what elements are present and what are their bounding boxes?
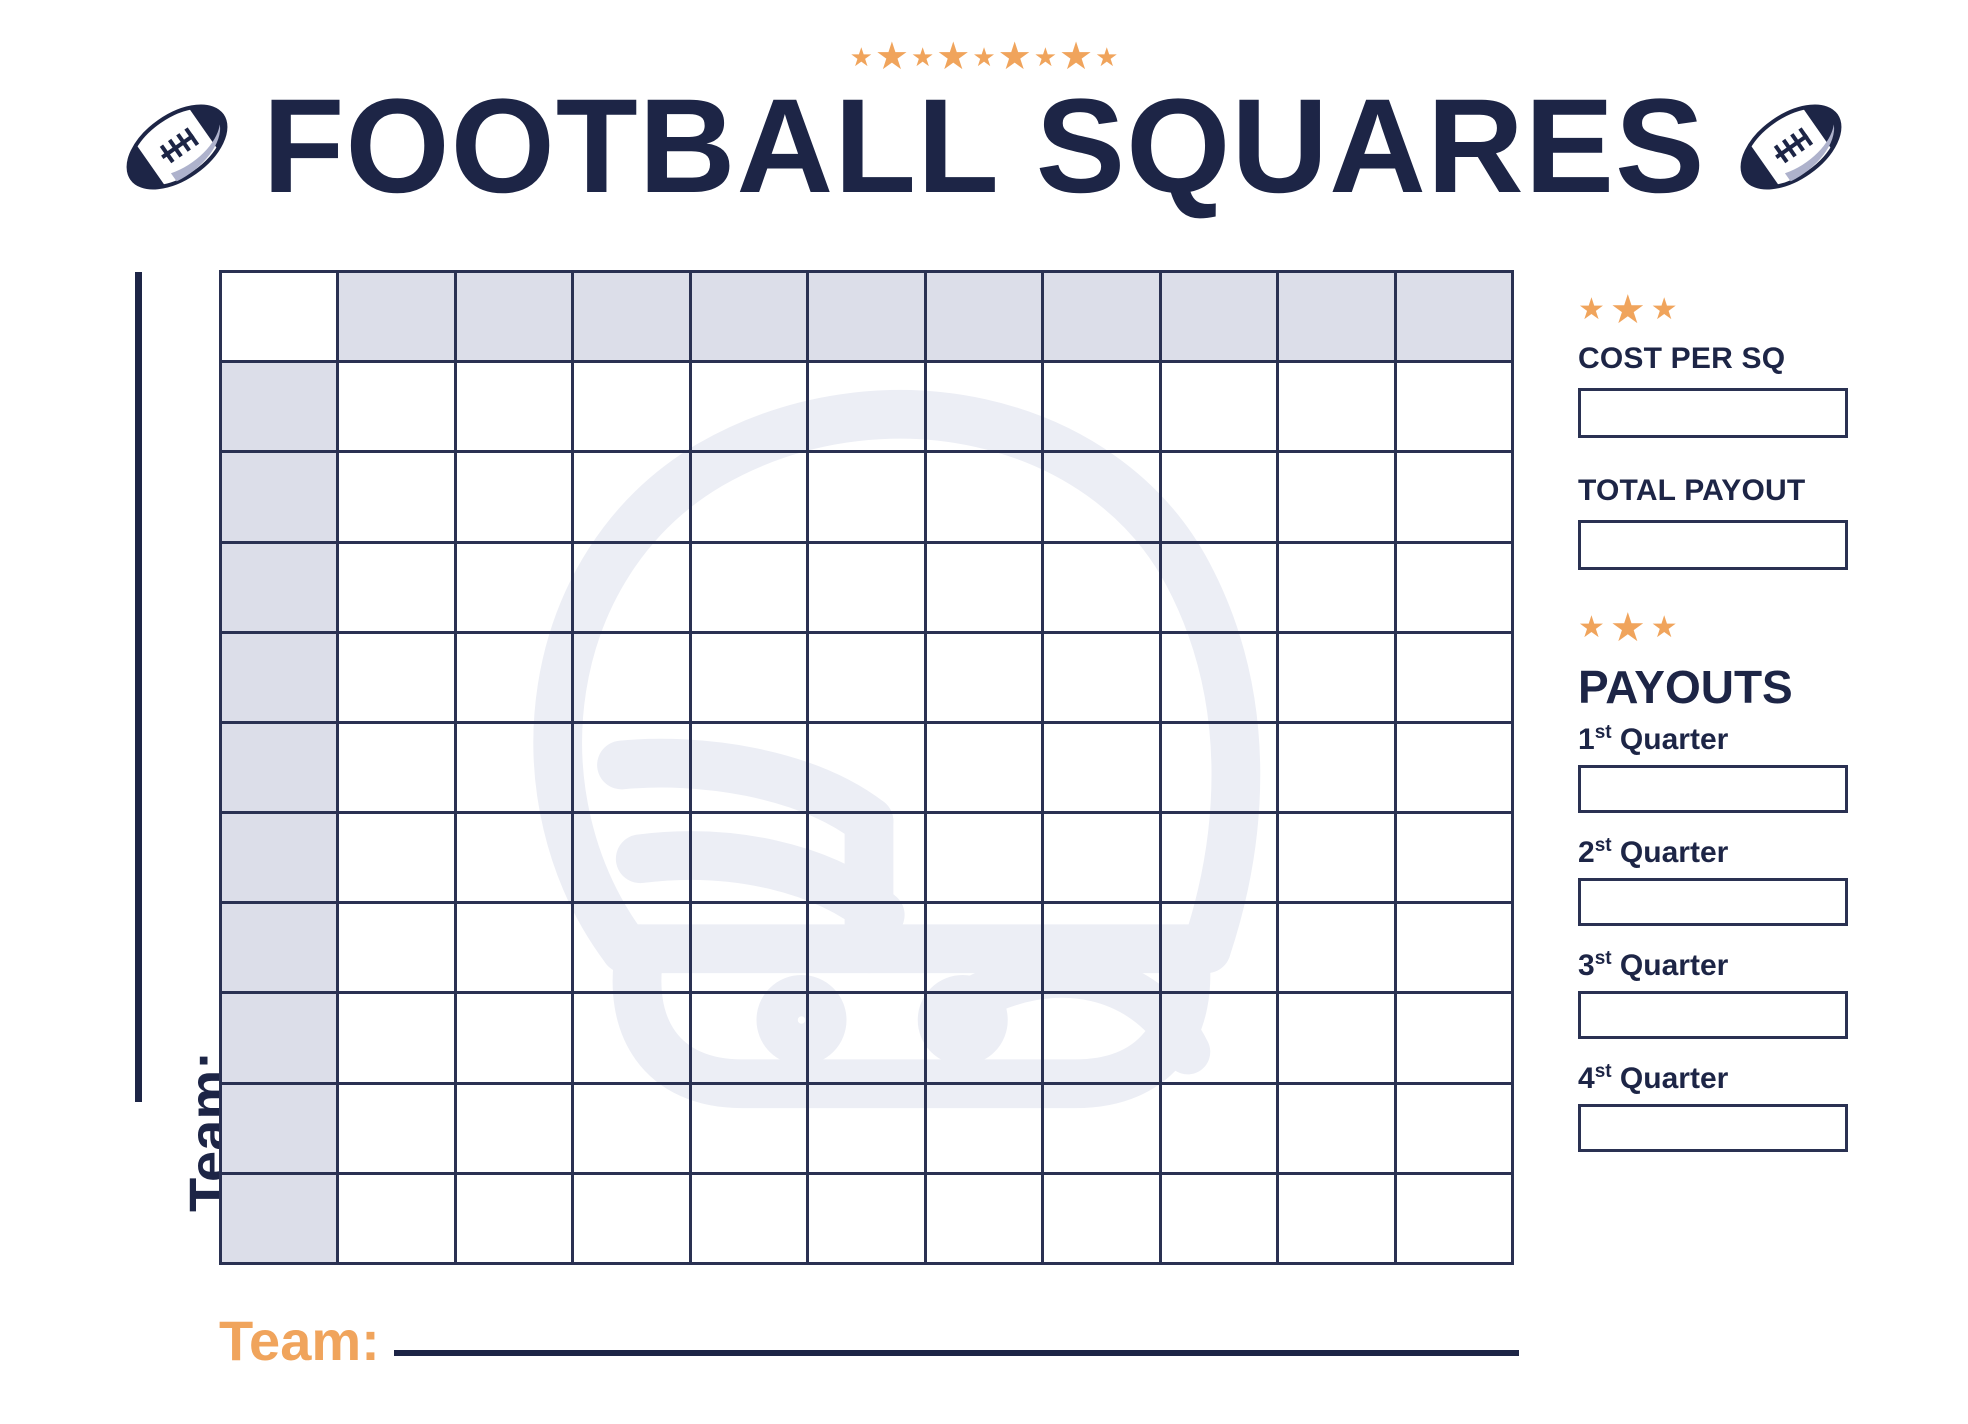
grid-square[interactable] [925,903,1042,993]
grid-square[interactable] [573,903,690,993]
grid-square[interactable] [1160,813,1277,903]
grid-square[interactable] [573,632,690,722]
grid-square[interactable] [573,452,690,542]
quarter-3-label: 3st Quarter [1578,948,1868,983]
grid-square[interactable] [1395,722,1512,812]
grid-square[interactable] [455,542,572,632]
grid-square[interactable] [1160,542,1277,632]
grid-square[interactable] [455,1083,572,1173]
grid-square[interactable] [338,1173,455,1263]
total-payout-label: TOTAL PAYOUT [1578,474,1868,508]
grid-square[interactable] [690,1083,807,1173]
grid-square[interactable] [1395,632,1512,722]
grid-row-header-6[interactable] [221,903,338,993]
grid-square[interactable] [690,362,807,452]
cost-star-icon: ★ [1651,295,1678,325]
grid-square[interactable] [1043,813,1160,903]
grid-square[interactable] [338,1083,455,1173]
quarter-3-payout-input[interactable] [1578,991,1848,1039]
quarter-2-label: 2st Quarter [1578,835,1868,870]
quarter-ordinal-suffix: st [1595,722,1612,743]
quarter-number: 2 [1578,836,1595,869]
grid-column-header-1[interactable] [455,272,572,362]
quarter-1-payout-input[interactable] [1578,765,1848,813]
payouts-star-icon: ★ [1651,613,1678,643]
quarter-word: Quarter [1612,836,1729,869]
grid-row [221,903,1513,993]
quarter-number: 1 [1578,723,1595,756]
page-title: FOOTBALL SQUARES [263,80,1706,214]
grid-square[interactable] [455,903,572,993]
cost-star-icon: ★ [1578,295,1605,325]
payouts-block: ★★★ PAYOUTS 1st Quarter2st Quarter3st Qu… [1578,608,1868,1152]
grid-body [221,272,1513,1264]
header-star-icon: ★ [1095,44,1118,70]
header-star-icon: ★ [936,38,970,76]
grid-row [221,452,1513,542]
payouts-section-star-strip: ★★★ [1578,608,1868,648]
grid-row-header-2[interactable] [221,542,338,632]
grid-square[interactable] [1160,1083,1277,1173]
quarter-ordinal-suffix: st [1595,1061,1612,1082]
grid-row-header-8[interactable] [221,1083,338,1173]
grid-square[interactable] [925,813,1042,903]
grid-square[interactable] [1043,632,1160,722]
grid-square[interactable] [338,542,455,632]
grid-square[interactable] [455,722,572,812]
grid-square[interactable] [690,993,807,1083]
grid-row [221,1173,1513,1263]
football-icon-left [117,87,237,207]
grid-square[interactable] [1043,362,1160,452]
grid-square[interactable] [1160,1173,1277,1263]
quarter-4-label: 4st Quarter [1578,1061,1868,1096]
grid-row-header-9[interactable] [221,1173,338,1263]
grid-square[interactable] [338,722,455,812]
bottom-team-label: Team: [219,1308,380,1373]
grid-row [221,813,1513,903]
grid-square[interactable] [808,632,925,722]
left-axis-rule [135,272,142,1102]
grid-square[interactable] [925,452,1042,542]
grid-square[interactable] [808,903,925,993]
grid-row [221,1083,1513,1173]
header-star-icon: ★ [972,44,995,70]
grid-square[interactable] [925,542,1042,632]
grid-square[interactable] [1395,1173,1512,1263]
grid-square[interactable] [338,362,455,452]
total-payout-input[interactable] [1578,520,1848,570]
grid-square[interactable] [808,722,925,812]
grid-column-header-0[interactable] [338,272,455,362]
quarter-4-payout-input[interactable] [1578,1104,1848,1152]
grid-square[interactable] [1278,903,1395,993]
grid-square[interactable] [573,362,690,452]
grid-square[interactable] [690,903,807,993]
grid-square[interactable] [573,722,690,812]
grid-square[interactable] [690,542,807,632]
title-row: FOOTBALL SQUARES [0,72,1968,222]
grid-square[interactable] [1043,993,1160,1083]
grid-row-header-7[interactable] [221,993,338,1083]
squares-grid-container [219,270,1514,1265]
cost-section-star-strip: ★★★ [1578,290,1868,330]
grid-row-header-0[interactable] [221,362,338,452]
grid-square[interactable] [338,903,455,993]
grid-column-header-4[interactable] [808,272,925,362]
grid-square[interactable] [1278,632,1395,722]
payouts-star-icon: ★ [1610,608,1646,648]
grid-column-header-8[interactable] [1278,272,1395,362]
grid-column-header-7[interactable] [1160,272,1277,362]
grid-row [221,632,1513,722]
grid-square[interactable] [338,813,455,903]
grid-row [221,272,1513,362]
grid-square[interactable] [455,632,572,722]
grid-square[interactable] [925,1083,1042,1173]
grid-square[interactable] [690,632,807,722]
grid-square[interactable] [455,993,572,1083]
football-icon-right [1731,87,1851,207]
grid-square[interactable] [925,632,1042,722]
grid-square[interactable] [1278,542,1395,632]
bottom-team-row: Team: [219,1300,1519,1380]
grid-square[interactable] [1395,362,1512,452]
header-star-strip: ★★★★★★★★★ [0,38,1968,76]
grid-row-header-5[interactable] [221,813,338,903]
grid-square[interactable] [1278,993,1395,1083]
quarters-list: 1st Quarter2st Quarter3st Quarter4st Qua… [1578,722,1868,1152]
side-panel: ★★★ COST PER SQ TOTAL PAYOUT ★★★ PAYOUTS… [1578,290,1868,1290]
grid-square[interactable] [1160,452,1277,542]
grid-square[interactable] [1278,722,1395,812]
quarter-2-payout-input[interactable] [1578,878,1848,926]
grid-square[interactable] [1395,542,1512,632]
grid-row-header-1[interactable] [221,452,338,542]
payouts-title: PAYOUTS [1578,660,1868,714]
quarter-ordinal-suffix: st [1595,948,1612,969]
grid-square[interactable] [1395,1083,1512,1173]
grid-square[interactable] [925,1173,1042,1263]
grid-square[interactable] [925,722,1042,812]
grid-square[interactable] [1278,1083,1395,1173]
grid-column-header-6[interactable] [1043,272,1160,362]
grid-square[interactable] [338,452,455,542]
grid-square[interactable] [1395,903,1512,993]
grid-square[interactable] [925,362,1042,452]
grid-square[interactable] [1043,452,1160,542]
grid-square[interactable] [1395,993,1512,1083]
grid-square[interactable] [1160,903,1277,993]
grid-square[interactable] [808,1083,925,1173]
grid-square[interactable] [1043,1083,1160,1173]
quarter-word: Quarter [1612,1062,1729,1095]
grid-square[interactable] [1043,903,1160,993]
page-header: ★★★★★★★★★ FOOTBALL SQUARES [0,0,1968,250]
header-star-icon: ★ [1034,44,1057,70]
grid-square[interactable] [1395,813,1512,903]
grid-square[interactable] [338,632,455,722]
grid-row-header-3[interactable] [221,632,338,722]
header-star-icon: ★ [911,44,934,70]
grid-row [221,993,1513,1083]
grid-square[interactable] [455,362,572,452]
grid-square[interactable] [808,542,925,632]
grid-square[interactable] [1278,1173,1395,1263]
grid-square[interactable] [1278,452,1395,542]
quarter-ordinal-suffix: st [1595,835,1612,856]
grid-column-header-3[interactable] [690,272,807,362]
grid-row-header-4[interactable] [221,722,338,812]
grid-square[interactable] [808,993,925,1083]
grid-square[interactable] [455,452,572,542]
payouts-star-icon: ★ [1578,613,1605,643]
grid-corner-cell [221,272,338,362]
grid-column-header-2[interactable] [573,272,690,362]
grid-square[interactable] [1160,632,1277,722]
header-star-icon: ★ [875,38,909,76]
grid-row [221,362,1513,452]
grid-square[interactable] [690,1173,807,1263]
grid-square[interactable] [1160,722,1277,812]
grid-row [221,542,1513,632]
cost-per-sq-input[interactable] [1578,388,1848,438]
grid-square[interactable] [573,993,690,1083]
grid-square[interactable] [808,362,925,452]
grid-square[interactable] [455,813,572,903]
grid-square[interactable] [1043,542,1160,632]
grid-square[interactable] [455,1173,572,1263]
grid-square[interactable] [573,813,690,903]
grid-square[interactable] [1043,1173,1160,1263]
header-star-icon: ★ [1059,38,1093,76]
grid-square[interactable] [1395,452,1512,542]
quarter-word: Quarter [1612,723,1729,756]
grid-square[interactable] [573,1173,690,1263]
grid-square[interactable] [573,542,690,632]
quarter-1-label: 1st Quarter [1578,722,1868,757]
grid-square[interactable] [1278,813,1395,903]
header-star-icon: ★ [998,38,1032,76]
grid-square[interactable] [690,813,807,903]
cost-star-icon: ★ [1610,290,1646,330]
header-star-icon: ★ [850,44,873,70]
quarter-number: 4 [1578,1062,1595,1095]
grid-square[interactable] [573,1083,690,1173]
grid-square[interactable] [690,722,807,812]
football-squares-grid[interactable] [219,270,1514,1265]
grid-square[interactable] [925,993,1042,1083]
bottom-team-write-line[interactable] [394,1350,1519,1356]
cost-per-sq-label: COST PER SQ [1578,342,1868,376]
quarter-number: 3 [1578,949,1595,982]
grid-square[interactable] [1278,362,1395,452]
grid-column-header-5[interactable] [925,272,1042,362]
grid-square[interactable] [808,813,925,903]
grid-square[interactable] [1160,993,1277,1083]
grid-square[interactable] [1043,722,1160,812]
grid-square[interactable] [1160,362,1277,452]
quarter-word: Quarter [1612,949,1729,982]
grid-square[interactable] [690,452,807,542]
grid-column-header-9[interactable] [1395,272,1512,362]
football-squares-page: ★★★★★★★★★ FOOTBALL SQUARES [0,0,1968,1424]
grid-square[interactable] [808,1173,925,1263]
grid-square[interactable] [808,452,925,542]
grid-square[interactable] [338,993,455,1083]
grid-row [221,722,1513,812]
